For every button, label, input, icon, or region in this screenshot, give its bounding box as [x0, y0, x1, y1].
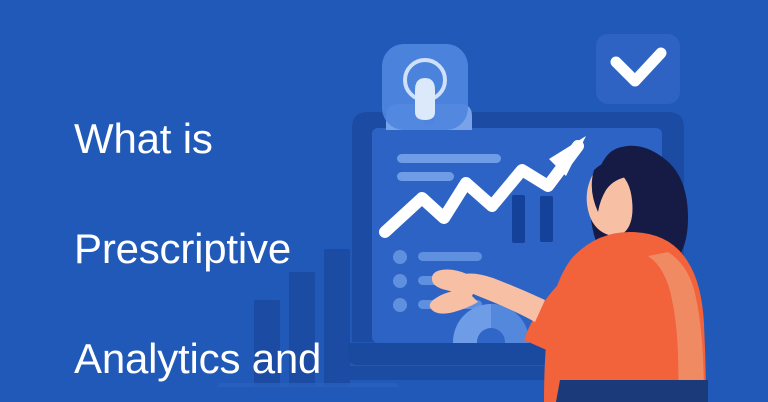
check-badge-bg	[596, 34, 680, 104]
headline-line-3: Analytics and	[74, 331, 374, 386]
list-item-2-bullet	[393, 274, 407, 288]
headline-line-2: Prescriptive	[74, 221, 374, 276]
headline-line-1: What is	[74, 111, 374, 166]
approved-check-badge[interactable]	[596, 34, 680, 104]
screen-bar-2	[540, 196, 553, 242]
pants	[556, 380, 708, 402]
list-item-1-line	[418, 252, 482, 261]
list-item-1-bullet	[393, 250, 407, 264]
banner-canvas: What is Prescriptive Analytics and How D…	[0, 0, 768, 402]
click-target-badge[interactable]	[382, 44, 468, 130]
cursor-pointer	[415, 78, 435, 120]
header-bar-short	[397, 172, 454, 181]
header-bar-long	[397, 154, 501, 163]
list-item-3-bullet	[393, 298, 407, 312]
page-title: What is Prescriptive Analytics and How D…	[74, 56, 374, 402]
screen-bar-1	[512, 195, 525, 243]
